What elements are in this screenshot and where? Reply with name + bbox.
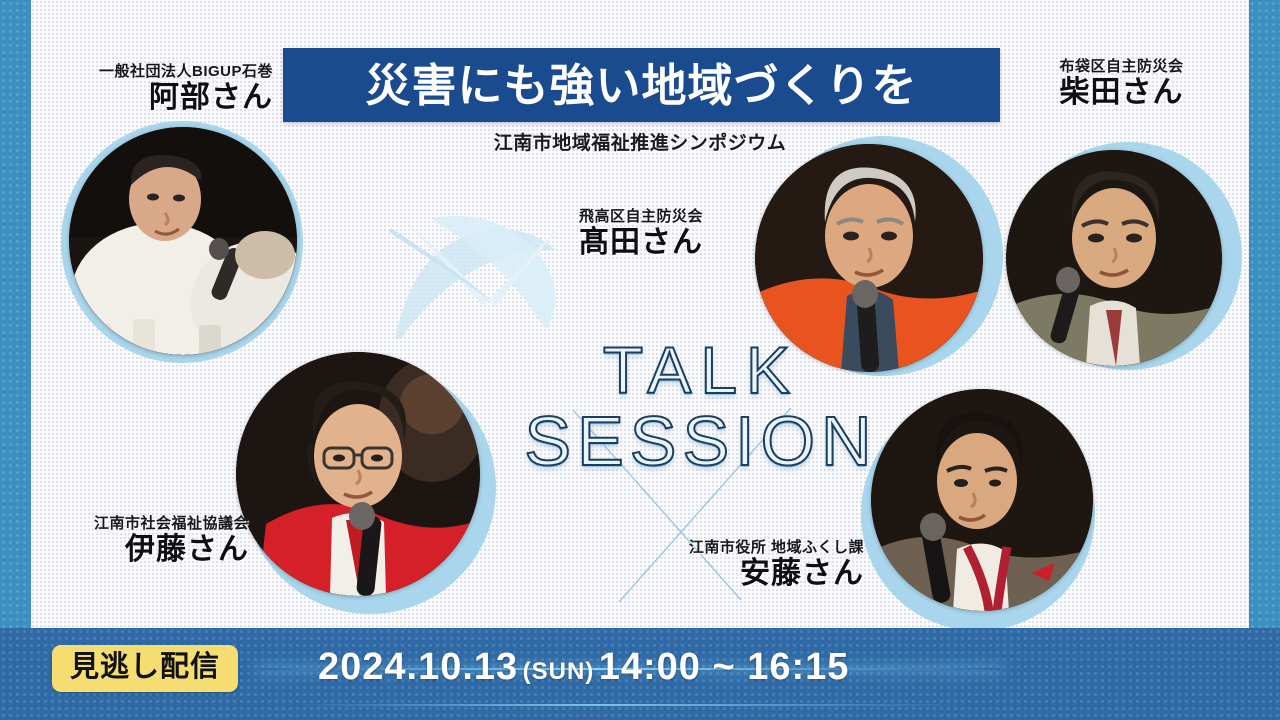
speaker-org: 布袋区自主防災会 bbox=[994, 55, 1249, 76]
wordmark-line-2: SESSION bbox=[501, 407, 901, 476]
speaker-label-ito: 江南市社会福祉協議会 伊藤さん bbox=[31, 512, 249, 568]
replay-badge[interactable]: 見逃し配信 bbox=[52, 645, 238, 692]
right-decorative-band bbox=[1249, 0, 1280, 720]
avatar bbox=[69, 127, 297, 355]
speaker-label-abe: 一般社団法人BIGUP石巻 阿部さん bbox=[31, 60, 273, 116]
main-title-bar: 災害にも強い地域づくりを bbox=[283, 48, 1000, 122]
event-day-of-week: (SUN) bbox=[523, 658, 595, 685]
glow-line-bottom bbox=[300, 704, 960, 706]
speaker-label-shibata: 布袋区自主防災会 柴田さん bbox=[994, 55, 1249, 111]
speaker-org: 江南市役所 地域ふくし課 bbox=[601, 536, 864, 557]
avatar bbox=[236, 352, 480, 596]
speaker-name: 阿部さん bbox=[31, 81, 273, 116]
avatar bbox=[755, 144, 983, 372]
speaker-name: 柴田さん bbox=[994, 76, 1249, 111]
page-title: 災害にも強い地域づくりを bbox=[365, 63, 917, 108]
speaker-name: 安藤さん bbox=[601, 557, 864, 592]
main-panel: 災害にも強い地域づくりを 江南市地域福祉推進シンポジウム TALK SESSIO… bbox=[31, 0, 1249, 628]
poster-canvas: 災害にも強い地域づくりを 江南市地域福祉推進シンポジウム TALK SESSIO… bbox=[0, 0, 1280, 720]
speaker-label-takada: 飛高区自主防災会 髙田さん bbox=[526, 205, 756, 261]
event-date: 2024.10.13 bbox=[318, 646, 518, 688]
speaker-name: 伊藤さん bbox=[31, 533, 249, 568]
speaker-org: 飛高区自主防災会 bbox=[526, 205, 756, 226]
event-time: 14:00 ~ 16:15 bbox=[599, 646, 850, 688]
speaker-org: 一般社団法人BIGUP石巻 bbox=[31, 60, 273, 81]
avatar bbox=[1006, 150, 1222, 366]
left-decorative-band bbox=[0, 0, 31, 720]
speaker-name: 髙田さん bbox=[526, 226, 756, 261]
speaker-label-ando: 江南市役所 地域ふくし課 安藤さん bbox=[601, 536, 864, 592]
speaker-org: 江南市社会福祉協議会 bbox=[31, 512, 249, 533]
avatar bbox=[871, 389, 1093, 611]
event-datetime: 2024.10.13 (SUN) 14:00 ~ 16:15 bbox=[318, 648, 849, 686]
